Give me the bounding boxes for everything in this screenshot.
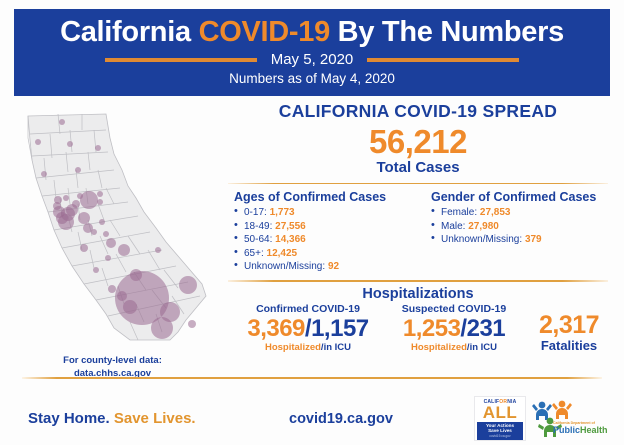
confirmed-foot-icu: in ICU (324, 342, 351, 353)
confirmed-icu-value: 1,157 (311, 315, 369, 342)
header-as-of: Numbers as of May 4, 2020 (229, 71, 395, 86)
map-bubble-madera (103, 231, 109, 237)
suspected-foot-hospitalized: Hospitalized (411, 342, 467, 353)
map-bubble-san-luis-obispo (93, 267, 99, 273)
gender-value-1: 27,980 (468, 221, 499, 232)
page-title: California COVID-19 By The Numbers (60, 15, 564, 49)
hospitalizations-row: Confirmed COVID-19 3,369/1,157 Hospitali… (222, 303, 614, 353)
caall-logo-band: Your Actions Save Lives covid19.ca.gov (477, 422, 523, 440)
map-bubble-san-bernardino (179, 276, 197, 294)
cdph-name-health: Health (580, 425, 608, 435)
header-date: May 5, 2020 (271, 51, 354, 68)
gender-value-2: 379 (525, 234, 542, 245)
ages-column: Ages of Confirmed Cases 0-17: 1,773 18-4… (222, 190, 417, 273)
map-bubble-fresno (106, 238, 116, 248)
suspected-hospitalized-value: 1,253 (403, 315, 461, 342)
map-bubble-el-dorado (97, 199, 103, 205)
map-bubble-san-diego (151, 317, 173, 339)
map-bubble-lassen (95, 145, 101, 151)
gender-list: Female: 27,853 Male: 27,980 Unknown/Miss… (431, 206, 614, 246)
confirmed-hospitalized-value: 3,369 (247, 315, 305, 342)
california-case-map (10, 100, 215, 355)
list-item: Male: 27,980 (431, 220, 614, 233)
map-bubble-orange (123, 300, 137, 314)
fatalities-block: 2,317 Fatalities (526, 303, 612, 353)
map-bubble-butte (75, 167, 81, 173)
map-bubble-tuolumne (99, 219, 105, 225)
divider-above-demographics (228, 183, 608, 184)
statistics-panel: CALIFORNIA COVID-19 SPREAD 56,212 Total … (222, 101, 614, 353)
suspected-foot-icu: in ICU (470, 342, 497, 353)
header-rule-left (105, 58, 257, 62)
map-bubble-mendocino (41, 171, 47, 177)
tagline-save-lives: Save Lives. (110, 410, 196, 427)
ages-label-1: 18-49: (244, 221, 272, 232)
list-item: 50-64: 14,366 (234, 233, 417, 246)
map-bubble-sacramento (80, 191, 98, 209)
list-item: Female: 27,853 (431, 206, 614, 219)
map-bubble-shasta (67, 141, 73, 147)
map-bubble-merced (91, 229, 97, 235)
hospitalizations-title: Hospitalizations (222, 286, 614, 302)
map-bubble-monterey (80, 244, 88, 252)
confirmed-numbers: 3,369/1,157 (232, 315, 384, 342)
suspected-numbers: 1,253/231 (384, 315, 524, 342)
suspected-icu-value: 231 (467, 315, 506, 342)
ages-value-2: 14,366 (275, 234, 306, 245)
map-bubble-marin (53, 202, 61, 210)
gender-value-0: 27,853 (480, 207, 511, 218)
gender-label-0: Female: (441, 207, 477, 218)
ages-value-3: 12,425 (267, 248, 298, 259)
demographics-columns: Ages of Confirmed Cases 0-17: 1,773 18-4… (222, 190, 614, 273)
fatalities-label: Fatalities (526, 338, 612, 353)
header-banner: California COVID-19 By The Numbers May 5… (14, 9, 610, 96)
gender-heading: Gender of Confirmed Cases (431, 190, 614, 204)
list-item: 0-17: 1,773 (234, 206, 417, 219)
caall-logo-word: ALL (483, 404, 518, 421)
ages-label-4: Unknown/Missing: (244, 261, 325, 272)
website-url[interactable]: covid19.ca.gov (289, 411, 393, 427)
footer-divider (22, 377, 602, 379)
map-bubble-imperial (188, 320, 196, 328)
list-item: 65+: 12,425 (234, 247, 417, 260)
gender-label-1: Male: (441, 221, 465, 232)
gender-label-2: Unknown/Missing: (441, 234, 522, 245)
map-bubble-san-mateo (56, 212, 68, 224)
ages-label-2: 50-64: (244, 234, 272, 245)
confirmed-foot-hospitalized: Hospitalized (265, 342, 321, 353)
map-bubble-placer (97, 191, 103, 197)
tagline-stay-home: Stay Home. (28, 410, 110, 427)
map-bubble-napa (63, 195, 69, 201)
suspected-footnote: Hospitalized/in ICU (384, 342, 524, 353)
suspected-heading: Suspected COVID-19 (384, 303, 524, 315)
map-bubble-solano (72, 200, 80, 208)
total-cases-value: 56,212 (222, 123, 614, 160)
map-bubble-ventura (117, 291, 127, 301)
map-bubble-santa-barbara (108, 285, 116, 293)
map-bubble-kings (105, 255, 111, 261)
tagline: Stay Home. Save Lives. (28, 410, 196, 427)
map-bubble-yolo (77, 193, 83, 199)
infographic-page: California COVID-19 By The Numbers May 5… (0, 0, 624, 445)
confirmed-footnote: Hospitalized/in ICU (232, 342, 384, 353)
map-bubble-siskiyou (59, 119, 65, 125)
page-title-post: By The Numbers (330, 16, 564, 48)
cdph-logo-text: California Department of PublicHealth (553, 421, 615, 435)
map-bubble-tulare (118, 244, 130, 256)
confirmed-heading: Confirmed COVID-19 (232, 303, 384, 315)
ages-label-3: 65+: (244, 248, 264, 259)
divider-above-hospitalizations (228, 280, 608, 281)
confirmed-hospitalizations-block: Confirmed COVID-19 3,369/1,157 Hospitali… (232, 303, 384, 353)
map-bubble-kern (130, 269, 142, 281)
caall-band-line3: covid19.ca.gov (489, 434, 510, 440)
page-title-pre: California (60, 16, 199, 48)
cdph-name: PublicHealth (553, 425, 615, 435)
ages-value-1: 27,556 (275, 221, 306, 232)
ages-heading: Ages of Confirmed Cases (234, 190, 417, 204)
fatalities-value: 2,317 (526, 312, 612, 339)
cdph-name-public: Public (553, 425, 580, 435)
page-title-accent: COVID-19 (199, 16, 330, 48)
suspected-hospitalizations-block: Suspected COVID-19 1,253/231 Hospitalize… (384, 303, 524, 353)
ages-value-4: 92 (328, 261, 339, 272)
california-all-logo: CALIFORNIA ALL Your Actions Save Lives c… (474, 396, 526, 441)
ages-list: 0-17: 1,773 18-49: 27,556 50-64: 14,366 … (234, 206, 417, 273)
header-date-row: May 5, 2020 (14, 51, 610, 68)
map-bubble-san-joaquin (78, 212, 90, 224)
ages-value-0: 1,773 (270, 207, 295, 218)
california-map-svg (10, 100, 215, 355)
list-item: 18-49: 27,556 (234, 220, 417, 233)
list-item: Unknown/Missing: 379 (431, 233, 614, 246)
map-caption-line1: For county-level data: (10, 355, 215, 368)
spread-title: CALIFORNIA COVID-19 SPREAD (222, 101, 614, 122)
list-item: Unknown/Missing: 92 (234, 260, 417, 273)
ages-label-0: 0-17: (244, 207, 267, 218)
gender-column: Gender of Confirmed Cases Female: 27,853… (417, 190, 614, 273)
map-bubble-inyo (155, 247, 161, 253)
header-rule-right (367, 58, 519, 62)
total-cases-label: Total Cases (222, 159, 614, 176)
map-bubble-humboldt (35, 139, 41, 145)
